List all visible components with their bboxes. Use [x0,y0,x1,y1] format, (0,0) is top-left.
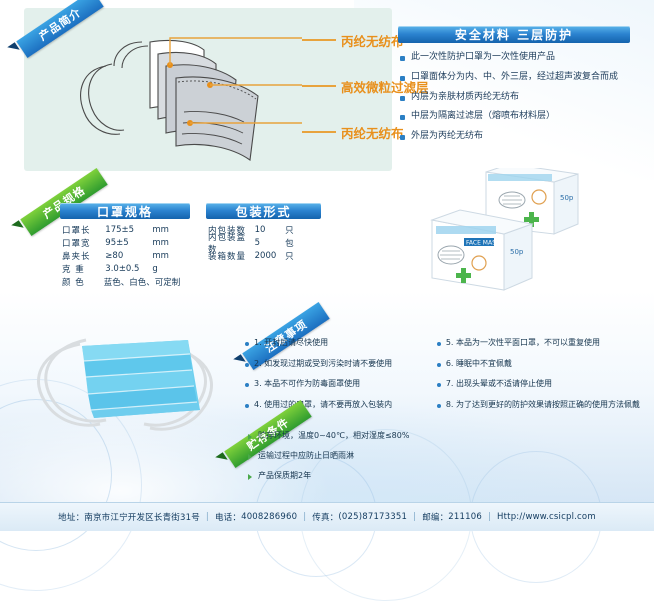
bullet-dot-icon [245,363,249,367]
footer-phone: 4008286960 [241,512,297,522]
mask-spec-title: 口罩规格 [60,203,190,219]
note-item: 3. 本品不可作为防毒面罩使用 [245,379,437,389]
bullet-square-icon [400,76,405,81]
storage-item: 贮存环境，温度0~40℃，相对湿度≤80% [248,430,548,441]
table-row: 口罩长 175±5 mm [60,223,190,236]
storage-panel: 贮存环境，温度0~40℃，相对湿度≤80% 运输过程中应防止日晒雨淋 产品保质期… [248,430,548,490]
safety-bullet-text: 口罩面体分为内、中、外三层，经过超声波复合而成 [411,72,618,83]
note-text: 5. 本品为一次性平面口罩，不可以重复使用 [446,338,600,348]
footer-address-label: 地址： [58,511,84,523]
svg-text:50p: 50p [560,194,574,202]
callout-line [302,131,336,133]
bullet-square-icon [400,135,405,140]
safety-bullet: 外层为丙纶无纺布 [398,131,630,142]
bullet-square-icon [400,115,405,120]
callout-dot-filter [207,82,213,88]
note-text: 7. 出现头晕或不适请停止使用 [446,379,552,389]
bullet-dot-icon [245,404,249,408]
note-item: 1. 开封后请尽快使用 [245,338,437,348]
table-row: 克 重 3.0±0.5 g [60,262,190,275]
row-key: 鼻夹长 [60,250,105,262]
boxes-illustration: 50p FACE MASK [428,168,618,298]
row-unit: mm [152,238,190,248]
safety-bullet: 口罩面体分为内、中、外三层，经过超声波复合而成 [398,72,630,83]
note-item: 7. 出现头晕或不适请停止使用 [437,379,640,389]
bullet-dot-icon [437,404,441,408]
bullet-dot-icon [437,342,441,346]
note-text: 3. 本品不可作为防毒面罩使用 [254,379,360,389]
storage-text: 产品保质期2年 [258,470,311,481]
callout-dot-outer [167,62,173,68]
row-key: 颜 色 [60,276,104,288]
row-unit: g [152,264,190,274]
row-key: 口罩长 [60,224,105,236]
note-text: 1. 开封后请尽快使用 [254,338,328,348]
safety-bullet-text: 外层为丙纶无纺布 [411,131,483,142]
table-row: 口罩宽 95±5 mm [60,236,190,249]
footer-separator: | [303,512,306,522]
row-unit: 只 [285,224,321,236]
bullet-dot-icon [245,383,249,387]
bullet-dot-icon [245,342,249,346]
intro-panel: 丙纶无纺布 高效微粒过滤层 丙纶无纺布 [24,8,392,171]
bullet-square-icon [400,56,405,61]
storage-text: 运输过程中应防止日晒雨淋 [258,450,354,461]
callout-line [302,39,336,41]
note-text: 6. 睡眠中不宜佩戴 [446,359,512,369]
row-key: 装箱数量 [206,250,255,262]
callout-label-outer: 丙纶无纺布 [341,31,404,50]
footer-zip-label: 邮编： [422,511,448,523]
bullet-triangle-icon [248,474,252,480]
footer-fax: (025)87173351 [338,512,407,522]
footer-separator: | [413,512,416,522]
row-unit: mm [152,251,190,261]
footer-fax-label: 传真： [312,511,338,523]
note-item: 5. 本品为一次性平面口罩，不可以重复使用 [437,338,640,348]
svg-text:50p: 50p [510,248,524,256]
footer-contact-bar: 地址： 南京市江宁开发区长青街31号 | 电话： 4008286960 | 传真… [0,502,654,531]
bullet-dot-icon [437,383,441,387]
row-value: 3.0±0.5 [105,264,152,274]
mask-spec-table: 口罩规格 口罩长 175±5 mm 口罩宽 95±5 mm 鼻夹长 ≥80 mm [60,203,190,288]
footer-address: 南京市江宁开发区长青街31号 [84,511,200,523]
row-unit: 包 [285,237,321,249]
safety-bullet-text: 内层为亲肤材质丙纶无纺布 [411,92,519,103]
footer-website[interactable]: Http://www.csicpl.com [497,512,596,522]
callout-label-inner: 丙纶无纺布 [341,123,404,142]
note-item: 2. 如发现过期或受到污染时请不要使用 [245,359,437,369]
row-value: 95±5 [105,238,152,248]
note-item: 4. 使用过的口罩，请不要再放入包装内 [245,400,437,410]
safety-title: 安全材料 三层防护 [398,26,630,43]
storage-item: 运输过程中应防止日晒雨淋 [248,450,548,461]
note-item: 6. 睡眠中不宜佩戴 [437,359,640,369]
product-spec-sheet: 丙纶无纺布 高效微粒过滤层 丙纶无纺布 产品简介 安全材料 三层防护 此一次性防… [0,0,654,531]
footer-separator: | [488,512,491,522]
mask-product-photo [20,318,245,440]
storage-item: 产品保质期2年 [248,470,548,481]
storage-text: 贮存环境，温度0~40℃，相对湿度≤80% [258,430,409,441]
row-value: 2000 [255,251,285,261]
row-value: 5 [255,238,285,248]
packaging-table: 包装形式 内包装数 10 只 内包装盒数 5 包 装箱数量 2000 只 [206,203,321,262]
callout-line [302,85,336,87]
packaging-title: 包装形式 [206,203,321,219]
safety-panel: 安全材料 三层防护 此一次性防护口罩为一次性使用产品 口罩面体分为内、中、外三层… [398,26,630,151]
notes-column-left: 1. 开封后请尽快使用 2. 如发现过期或受到污染时请不要使用 3. 本品不可作… [245,338,437,420]
table-row: 颜 色 蓝色、白色、可定制 [60,275,190,288]
footer-zip: 211106 [448,512,482,522]
note-text: 8. 为了达到更好的防护效果请按照正确的使用方法佩戴 [446,400,640,410]
row-unit: 只 [285,250,321,262]
note-text: 2. 如发现过期或受到污染时请不要使用 [254,359,392,369]
row-key: 口罩宽 [60,237,105,249]
safety-bullet: 内层为亲肤材质丙纶无纺布 [398,92,630,103]
row-value: 蓝色、白色、可定制 [104,276,190,288]
note-item: 8. 为了达到更好的防护效果请按照正确的使用方法佩戴 [437,400,640,410]
notes-column-right: 5. 本品为一次性平面口罩，不可以重复使用 6. 睡眠中不宜佩戴 7. 出现头晕… [437,338,640,420]
bullet-dot-icon [437,363,441,367]
table-row: 内包装盒数 5 包 [206,236,321,249]
row-value: 175±5 [105,225,152,235]
row-value: ≥80 [105,251,152,261]
safety-bullet: 中层为隔离过滤层（熔喷布材料层） [398,111,630,122]
table-row: 装箱数量 2000 只 [206,249,321,262]
row-key: 克 重 [60,263,105,275]
row-value: 10 [255,225,285,235]
callout-dot-inner [187,120,193,126]
safety-bullet: 此一次性防护口罩为一次性使用产品 [398,52,630,63]
blue-mask-illustration [20,318,245,440]
safety-bullet-text: 此一次性防护口罩为一次性使用产品 [411,52,555,63]
product-boxes-photo: 50p FACE MASK [428,168,618,298]
footer-separator: | [206,512,209,522]
safety-bullet-text: 中层为隔离过滤层（熔喷布材料层） [411,111,555,122]
row-unit: mm [152,225,190,235]
footer-phone-label: 电话： [215,511,241,523]
safety-bullet-list: 此一次性防护口罩为一次性使用产品 口罩面体分为内、中、外三层，经过超声波复合而成… [398,52,630,142]
note-text: 4. 使用过的口罩，请不要再放入包装内 [254,400,392,410]
table-row: 鼻夹长 ≥80 mm [60,249,190,262]
bullet-square-icon [400,96,405,101]
mask-illustration [54,20,304,165]
bullet-triangle-icon [248,454,252,460]
bullet-triangle-icon [248,434,252,440]
svg-text:FACE MASK: FACE MASK [466,240,501,247]
